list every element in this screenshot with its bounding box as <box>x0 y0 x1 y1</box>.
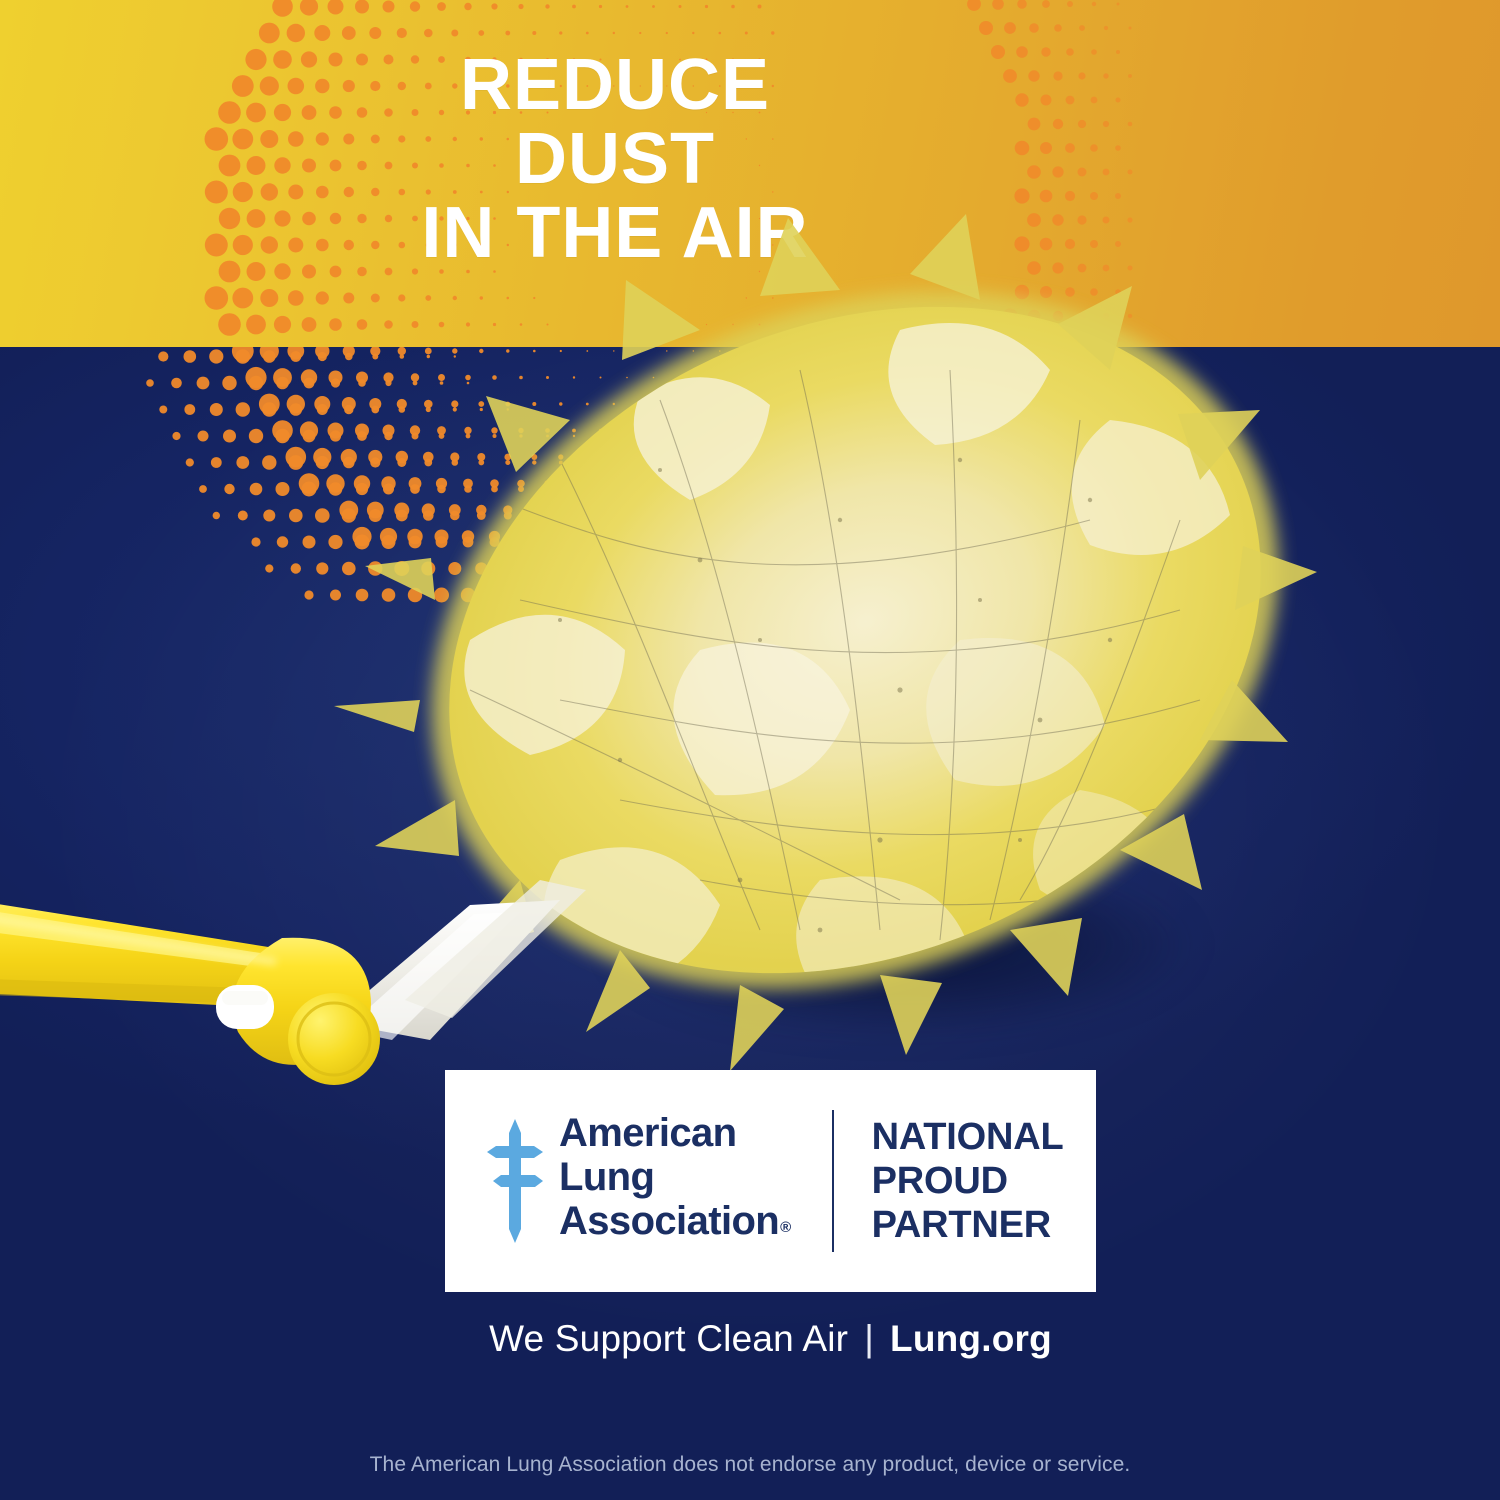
partner-line-3: PARTNER <box>872 1203 1064 1247</box>
poster-canvas: REDUCE DUST IN THE AIR <box>0 0 1500 1500</box>
tagline-support-text: We Support Clean Air <box>489 1318 848 1359</box>
headline-line-3: IN THE AIR <box>0 196 1230 270</box>
partner-line-1: NATIONAL <box>872 1115 1064 1159</box>
ala-word-association: Association® <box>559 1199 790 1252</box>
ala-wordmark: American Lung Association® <box>559 1111 790 1252</box>
disclaimer-text: The American Lung Association does not e… <box>0 1452 1500 1478</box>
headline: REDUCE DUST IN THE AIR <box>0 48 1230 270</box>
ala-word-lung: Lung <box>559 1155 790 1199</box>
partner-line-2: PROUD <box>872 1159 1064 1203</box>
tagline: We Support Clean Air|Lung.org <box>445 1318 1096 1360</box>
tagline-url[interactable]: Lung.org <box>890 1318 1052 1359</box>
ala-double-cross-icon <box>487 1119 543 1243</box>
partner-logo-panel: American Lung Association® NATIONAL PROU… <box>445 1070 1096 1292</box>
tagline-separator: | <box>848 1318 890 1360</box>
headline-line-1: REDUCE <box>0 48 1230 122</box>
duster-drop-shadow <box>520 830 1280 1060</box>
ala-word-american: American <box>559 1111 790 1155</box>
logo-vertical-divider <box>832 1110 834 1252</box>
headline-line-2: DUST <box>0 122 1230 196</box>
national-proud-partner-text: NATIONAL PROUD PARTNER <box>872 1115 1064 1247</box>
ala-logo: American Lung Association® <box>445 1111 790 1252</box>
registered-mark-icon: ® <box>780 1219 790 1236</box>
